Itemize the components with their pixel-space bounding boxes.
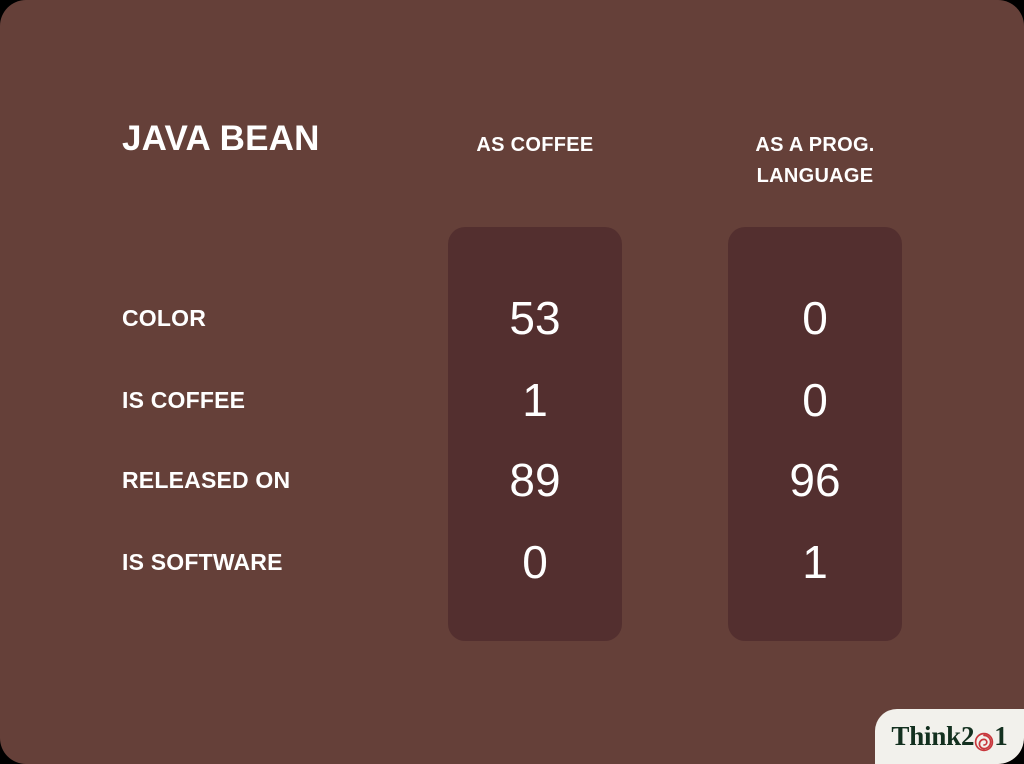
table-row: IS COFFEE 1 0 (0, 370, 1024, 430)
comparison-table: COLOR 53 0 IS COFFEE 1 0 RELEASED ON 89 … (0, 0, 1024, 764)
cell-is-coffee-as-coffee: 1 (448, 370, 622, 430)
cell-is-software-as-prog-language: 1 (728, 532, 902, 592)
row-label-released-on: RELEASED ON (122, 450, 290, 510)
table-row: COLOR 53 0 (0, 288, 1024, 348)
row-label-is-coffee: IS COFFEE (122, 370, 245, 430)
slide-canvas: JAVA BEAN AS COFFEE AS A PROG. LANGUAGE … (0, 0, 1024, 764)
cell-released-on-as-prog-language: 96 (728, 450, 902, 510)
cell-color-as-coffee: 53 (448, 288, 622, 348)
row-label-color: COLOR (122, 288, 206, 348)
cell-released-on-as-coffee: 89 (448, 450, 622, 510)
table-row: RELEASED ON 89 96 (0, 450, 1024, 510)
brand-logo-badge: Think2 1 (875, 709, 1024, 764)
table-row: IS SOFTWARE 0 1 (0, 532, 1024, 592)
cell-is-software-as-coffee: 0 (448, 532, 622, 592)
brand-wordmark: Think2 1 (891, 721, 1007, 752)
brand-wordmark-suffix: 1 (994, 721, 1007, 752)
row-label-is-software: IS SOFTWARE (122, 532, 283, 592)
cell-is-coffee-as-prog-language: 0 (728, 370, 902, 430)
spiral-icon (974, 728, 994, 748)
cell-color-as-prog-language: 0 (728, 288, 902, 348)
brand-wordmark-prefix: Think2 (891, 721, 974, 752)
